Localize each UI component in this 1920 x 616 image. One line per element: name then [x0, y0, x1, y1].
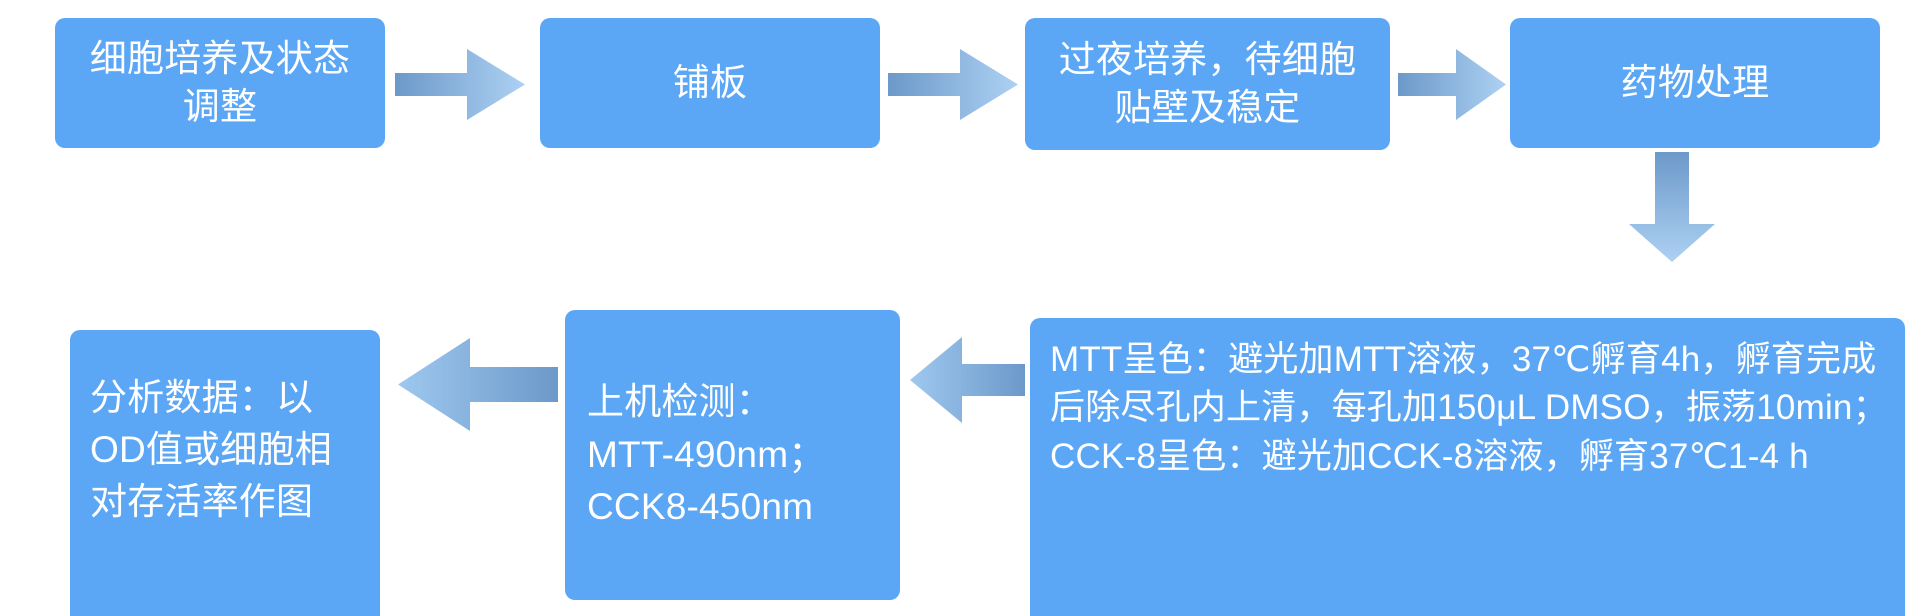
- flow-node-plating[interactable]: 铺板: [540, 18, 880, 148]
- arrow-right-icon-3: [1398, 47, 1506, 122]
- arrow-left-icon-1: [910, 330, 1025, 430]
- flow-node-data-analysis-label: 分析数据：以OD值或细胞相对存活率作图: [90, 372, 360, 527]
- arrow-right-icon-1: [395, 47, 525, 122]
- flow-node-overnight-culture[interactable]: 过夜培养，待细胞贴壁及稳定: [1025, 18, 1390, 150]
- flowchart-canvas: 细胞培养及状态调整 铺板 过夜培养，待细胞贴: [0, 0, 1920, 616]
- flow-node-overnight-culture-label: 过夜培养，待细胞贴壁及稳定: [1045, 36, 1370, 132]
- flow-node-colorimetric-development[interactable]: MTT呈色：避光加MTT溶液，37℃孵育4h，孵育完成后除尽孔内上清，每孔加15…: [1030, 318, 1905, 616]
- flow-node-instrument-readout[interactable]: 上机检测： MTT-490nm； CCK8-450nm: [565, 310, 900, 600]
- flow-node-colorimetric-development-label: MTT呈色：避光加MTT溶液，37℃孵育4h，孵育完成后除尽孔内上清，每孔加15…: [1050, 336, 1889, 481]
- flow-node-cell-culture-label: 细胞培养及状态调整: [81, 35, 359, 131]
- flow-node-instrument-readout-label: 上机检测： MTT-490nm； CCK8-450nm: [587, 376, 825, 534]
- arrow-left-icon-2: [398, 332, 558, 437]
- arrow-down-icon-1: [1627, 152, 1717, 262]
- flow-node-cell-culture[interactable]: 细胞培养及状态调整: [55, 18, 385, 148]
- flow-node-plating-label: 铺板: [673, 59, 747, 107]
- flow-node-drug-treatment-label: 药物处理: [1621, 59, 1770, 107]
- flow-node-drug-treatment[interactable]: 药物处理: [1510, 18, 1880, 148]
- arrow-right-icon-2: [888, 47, 1018, 122]
- flow-node-data-analysis[interactable]: 分析数据：以OD值或细胞相对存活率作图: [70, 330, 380, 616]
